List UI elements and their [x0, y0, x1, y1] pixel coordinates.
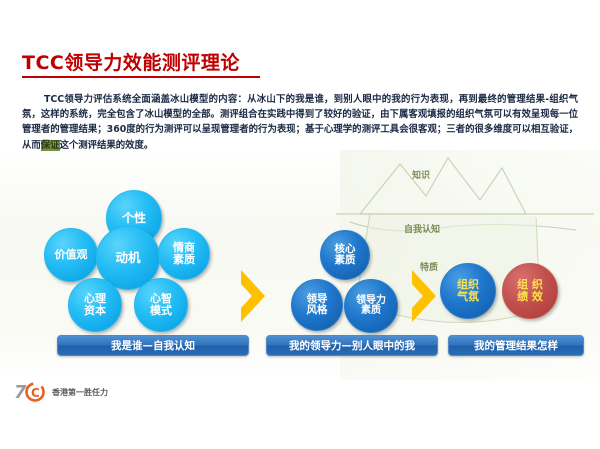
arrow-1 — [239, 268, 269, 324]
node-leadership-style[interactable]: 领导 风格 — [291, 279, 343, 331]
node-leadership-quality[interactable]: 领导力 素质 — [344, 279, 398, 333]
node-leadership-style-label: 领导 风格 — [307, 294, 328, 316]
svg-text:7: 7 — [14, 382, 27, 403]
banner-my-leadership-label: 我的领导力—别人眼中的我 — [289, 338, 415, 353]
node-core-quality[interactable]: 核心 素质 — [320, 230, 370, 280]
node-org-climate-label: 组织 气氛 — [457, 279, 479, 302]
node-mental-model[interactable]: 心智 模式 — [134, 278, 188, 332]
node-personality-label: 个性 — [122, 212, 146, 225]
node-core-quality-label: 核心 素质 — [335, 244, 356, 266]
node-mental-model-label: 心智 模式 — [150, 293, 172, 316]
banner-who-am-i[interactable]: 我是谁—自我认知 — [57, 335, 249, 356]
svg-text:C: C — [31, 386, 40, 400]
footer-logo: 7 C 香港第一胜任力 — [14, 381, 108, 403]
iceberg-label-self-awareness: 自我认知 — [404, 222, 440, 235]
banner-my-leadership[interactable]: 我的领导力—别人眼中的我 — [266, 335, 438, 356]
page-title: TCC领导力效能测评理论 — [22, 48, 240, 75]
node-org-climate[interactable]: 组织 气氛 — [440, 263, 496, 319]
paragraph-highlight: 保证 — [41, 140, 60, 151]
node-psych-capital-label: 心理 资本 — [84, 293, 106, 316]
arrow-2 — [410, 268, 440, 324]
banner-my-results-label: 我的管理结果怎样 — [474, 338, 558, 353]
node-leadership-quality-label: 领导力 素质 — [356, 296, 386, 317]
node-org-performance[interactable]: 组 织 绩 效 — [502, 263, 558, 319]
body-paragraph: TCC领导力评估系统全面涵盖冰山模型的内容：从冰山下的我是谁，到别人眼中的我的行… — [22, 92, 578, 153]
node-eq-quality[interactable]: 情商 素质 — [158, 228, 210, 280]
node-org-performance-label: 组 织 绩 效 — [517, 279, 543, 302]
node-motivation-label: 动机 — [115, 251, 140, 264]
banner-my-results[interactable]: 我的管理结果怎样 — [448, 335, 584, 356]
node-values-label: 价值观 — [55, 249, 88, 261]
node-eq-quality-label: 情商 素质 — [173, 242, 195, 265]
slide-canvas: 知识 自我认知 特质 TCC领导力效能测评理论 TCC领导力评估系统全面涵盖冰山… — [0, 0, 600, 449]
logo-mark-7c-icon: 7 C — [14, 381, 48, 403]
banner-who-am-i-label: 我是谁—自我认知 — [111, 338, 195, 353]
logo-text: 香港第一胜任力 — [52, 387, 108, 398]
node-psych-capital[interactable]: 心理 资本 — [68, 278, 122, 332]
node-values[interactable]: 价值观 — [44, 228, 98, 282]
paragraph-tail: 这个测评结果的效度。 — [60, 140, 154, 151]
iceberg-label-knowledge: 知识 — [412, 168, 430, 181]
title-underline — [22, 76, 260, 78]
